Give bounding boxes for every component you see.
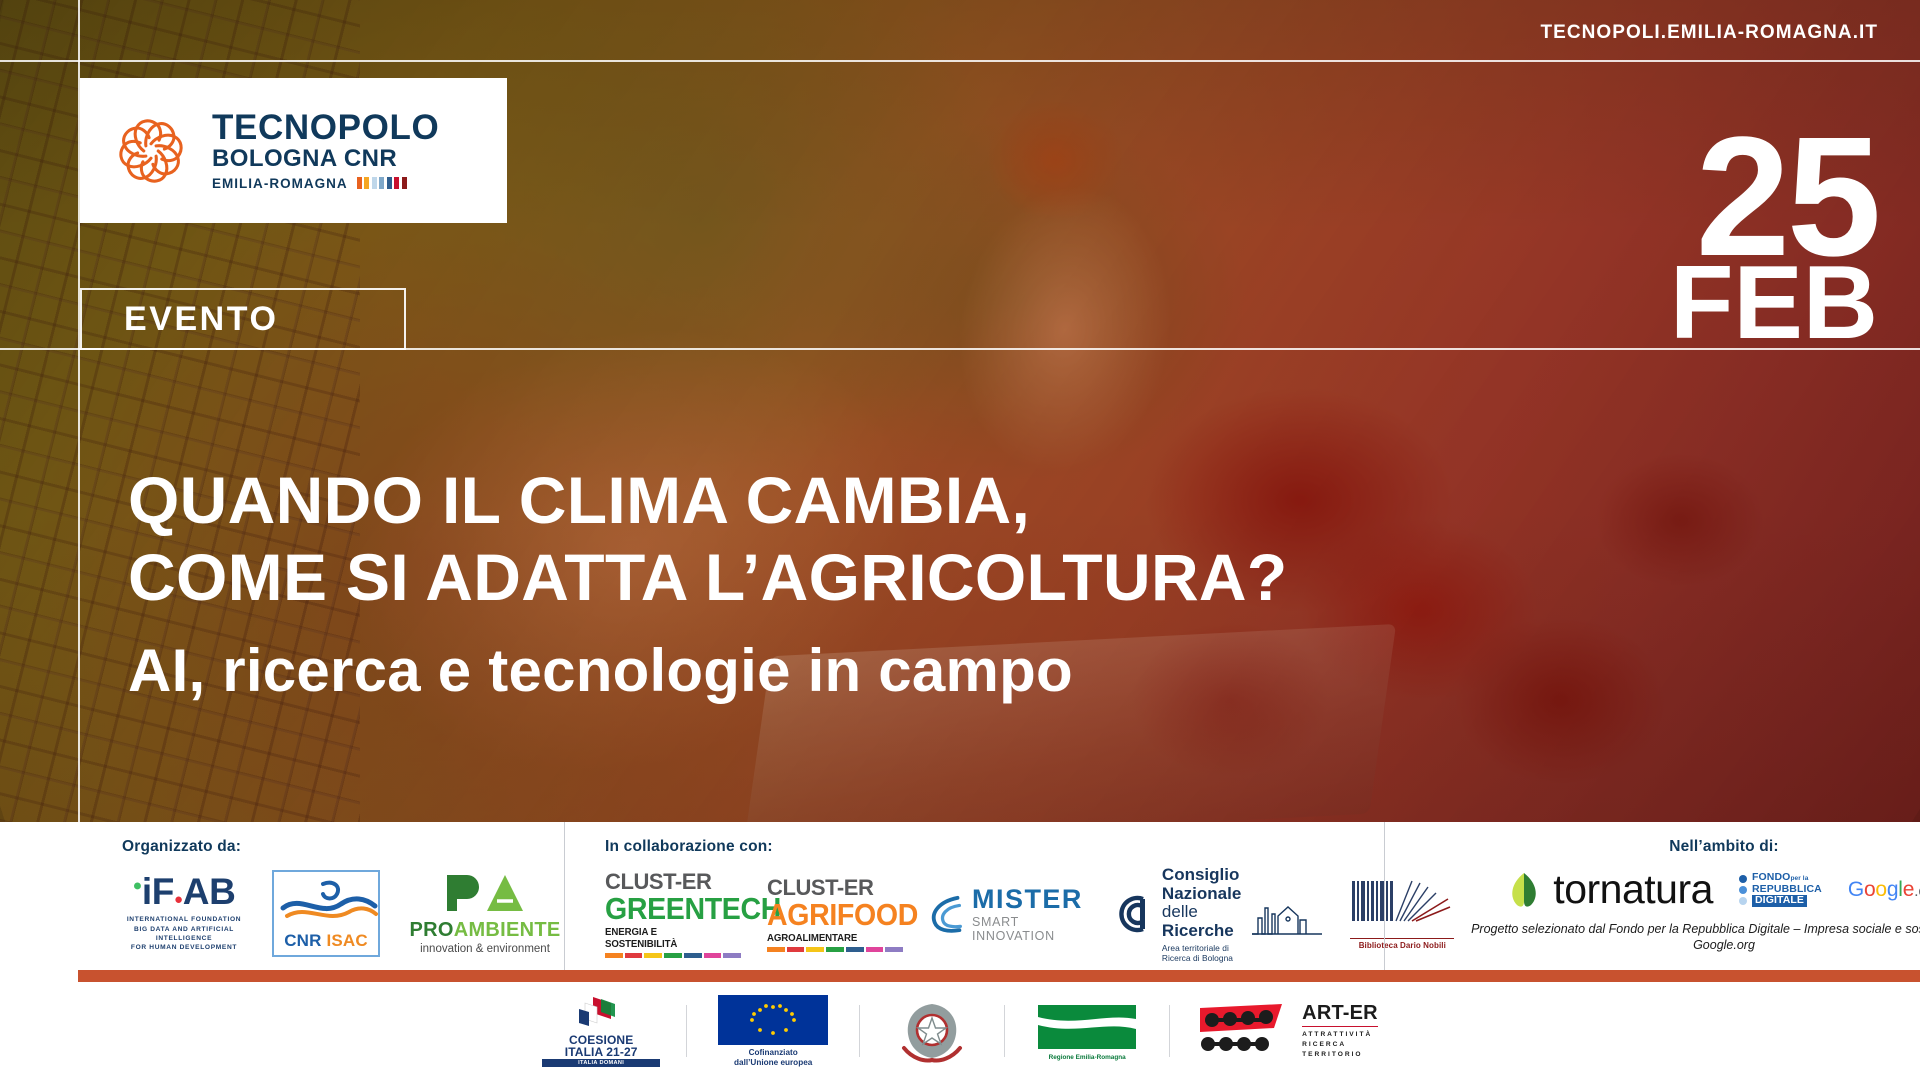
frd-dots-icon — [1739, 875, 1747, 905]
eu-caption: Cofinanziato dall’Unione europea — [713, 1048, 833, 1068]
logo-art-er[interactable]: ART-ER ATTRATTIVITÀ RICERCA TERRITORIO — [1196, 995, 1378, 1067]
mister-swoosh-icon — [929, 894, 967, 934]
event-poster: TECNOPOLI.EMILIA-ROMAGNA.IT TECNOPOLO BO… — [0, 0, 1920, 1080]
logo-cnr-isac[interactable]: CNR ISAC — [272, 870, 380, 957]
eu-flag-icon — [718, 995, 828, 1045]
logo-google-org[interactable]: Google.org — [1848, 878, 1920, 902]
footer-separator — [1169, 1005, 1170, 1057]
orange-divider — [78, 970, 1920, 982]
logo-cnr[interactable]: Consiglio Nazionale delle Ricerche Area … — [1109, 866, 1324, 963]
coesione-bar-label: ITALIA DOMANI — [542, 1059, 660, 1067]
page-subtitle: AI, ricerca e tecnologie in campo — [128, 636, 1073, 705]
greentech-tagline: ENERGIA E SOSTENIBILITÀ — [605, 926, 730, 950]
logo-wordmark: TECNOPOLO BOLOGNA CNR EMILIA-ROMAGNA — [212, 110, 439, 190]
within-note: Progetto selezionato dal Fondo per la Re… — [1425, 921, 1920, 953]
evento-badge: EVENTO — [80, 288, 406, 350]
partner-group-within: Nell’ambito di: tornatura FONDOper la — [1384, 822, 1920, 970]
mister-name: MISTER — [972, 886, 1083, 913]
pinwheel-icon — [106, 106, 196, 196]
greentech-color-bars-icon — [605, 953, 741, 958]
evento-label: EVENTO — [124, 300, 279, 339]
art-er-name: ART-ER — [1302, 1003, 1378, 1023]
agrifood-tagline: AGROALIMENTARE — [767, 932, 892, 944]
partner-group-organized: Organizzato da: ●iF●AB INTERNATIONAL FOU… — [78, 822, 564, 970]
footer-separator — [859, 1005, 860, 1057]
partner-strip: Organizzato da: ●iF●AB INTERNATIONAL FOU… — [78, 822, 1920, 970]
greentech-clust-er-label: CLUST-ER — [605, 871, 741, 893]
coesione-flag-icon — [571, 995, 631, 1029]
bologna-skyline-icon — [1250, 892, 1324, 936]
logo-repubblica-italiana[interactable] — [886, 995, 978, 1067]
logo-line-bologna-cnr: BOLOGNA CNR — [212, 145, 439, 173]
proambiente-tagline: innovation & environment — [406, 943, 564, 955]
logo-fondo-repubblica-digitale[interactable]: FONDOper la REPUBBLICA DIGITALE — [1739, 872, 1822, 907]
logo-line-tecnopolo: TECNOPOLO — [212, 110, 439, 145]
art-er-tagline: ATTRATTIVITÀ RICERCA TERRITORIO — [1302, 1030, 1378, 1059]
tecnopolo-logo-card[interactable]: TECNOPOLO BOLOGNA CNR EMILIA-ROMAGNA — [80, 78, 507, 223]
partner-group-collaboration: In collaborazione con: CLUST-ER GREENTEC… — [564, 822, 1384, 970]
proambiente-wordmark: PROAMBIENTE — [406, 920, 564, 940]
regione-caption: Regione Emilia-Romagna — [1031, 1054, 1143, 1061]
agrifood-clust-er-label: CLUST-ER — [767, 877, 903, 899]
republic-emblem-icon — [886, 996, 978, 1066]
greentech-wordmark: GREENTECH — [605, 893, 730, 925]
logo-clust-er-agrifood[interactable]: CLUST-ER AGRIFOOD AGROALIMENTARE — [767, 877, 903, 952]
isac-wordmark: CNR ISAC — [279, 931, 373, 951]
logo-clust-er-greentech[interactable]: CLUST-ER GREENTECH ENERGIA E SOSTENIBILI… — [605, 871, 741, 958]
flag-bars-icon — [357, 177, 407, 189]
ifab-wordmark: ●iF●AB — [122, 873, 246, 910]
tornatura-wordmark: tornatura — [1553, 866, 1713, 913]
footer-separator — [686, 1005, 687, 1057]
title-line-1: QUANDO IL CLIMA CAMBIA, — [128, 462, 1288, 539]
mister-wordmark: MISTER SMART INNOVATION — [972, 886, 1083, 943]
logo-ifab[interactable]: ●iF●AB INTERNATIONAL FOUNDATION BIG DATA… — [122, 873, 246, 952]
footer-separator — [1004, 1005, 1005, 1057]
logo-proambiente[interactable]: PROAMBIENTE innovation & environment — [406, 871, 564, 955]
regione-flag-icon — [1035, 1002, 1139, 1052]
guide-line-top — [0, 60, 1920, 62]
page-title: QUANDO IL CLIMA CAMBIA, COME SI ADATTA L… — [128, 462, 1288, 615]
ifab-tagline: INTERNATIONAL FOUNDATION BIG DATA AND AR… — [122, 915, 246, 952]
collaboration-title: In collaborazione con: — [605, 838, 1384, 856]
proambiente-pa-icon — [425, 871, 545, 915]
isac-wave-icon — [279, 878, 379, 924]
art-er-rule — [1302, 1026, 1378, 1028]
within-title: Nell’ambito di: — [1425, 838, 1920, 856]
institutional-footer: COESIONE ITALIA 21-27 ITALIA DOMANI — [0, 982, 1920, 1080]
art-er-flag-icon — [1196, 1002, 1292, 1060]
agrifood-color-bars-icon — [767, 947, 903, 952]
logo-mister[interactable]: MISTER SMART INNOVATION — [929, 886, 1083, 943]
cnr-line-1: Consiglio Nazionale — [1162, 866, 1241, 903]
event-date: 25 FEB — [1670, 128, 1878, 347]
organized-title: Organizzato da: — [122, 838, 564, 856]
logo-regione-emilia-romagna[interactable]: Regione Emilia-Romagna — [1031, 995, 1143, 1067]
logo-coesione-italia[interactable]: COESIONE ITALIA 21-27 ITALIA DOMANI — [542, 995, 660, 1067]
cnr-line-2: delle Ricerche — [1162, 903, 1241, 940]
frd-wordmark: FONDOper la REPUBBLICA DIGITALE — [1752, 872, 1822, 907]
logo-line-emilia-romagna: EMILIA-ROMAGNA — [212, 176, 348, 191]
logo-tornatura[interactable]: tornatura — [1507, 866, 1713, 913]
mister-tagline: SMART INNOVATION — [972, 915, 1083, 943]
logo-unione-europea[interactable]: Cofinanziato dall’Unione europea — [713, 995, 833, 1067]
cnr-line-3: Area territoriale di Ricerca di Bologna — [1162, 943, 1241, 963]
title-line-2: COME SI ADATTA L’AGRICOLTURA? — [128, 539, 1288, 616]
tornatura-leaf-icon — [1507, 871, 1541, 909]
date-month: FEB — [1670, 261, 1878, 346]
agrifood-wordmark: AGRIFOOD — [767, 899, 892, 931]
site-url[interactable]: TECNOPOLI.EMILIA-ROMAGNA.IT — [1541, 22, 1878, 44]
coesione-line-2: ITALIA 21-27 — [542, 1046, 660, 1058]
cnr-spiral-icon — [1109, 892, 1153, 936]
